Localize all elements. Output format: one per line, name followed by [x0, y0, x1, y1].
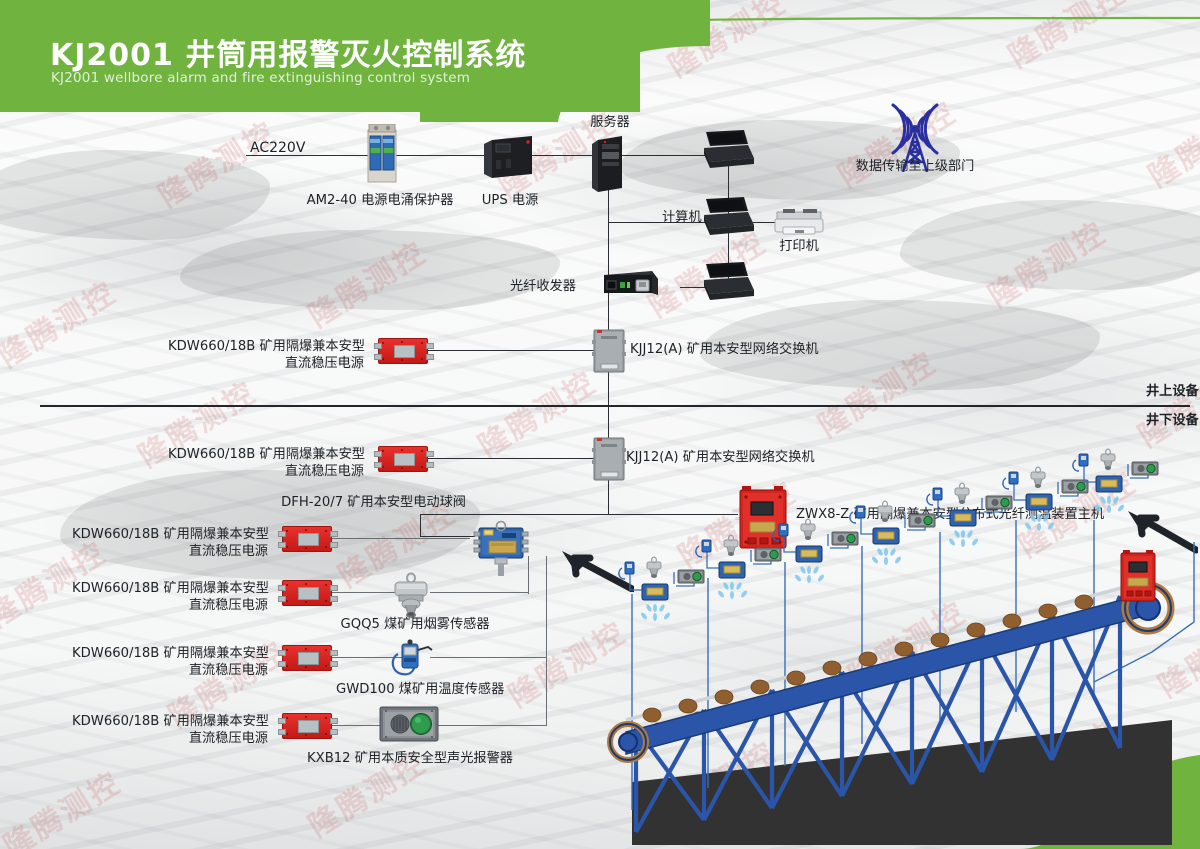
electric-ball-valve-icon: [470, 518, 532, 581]
temperature-sensor-label: GWD100 煤矿用温度传感器: [336, 681, 502, 698]
ps-line1: KDW660/18B 矿用隔爆兼本安型: [72, 714, 269, 729]
page-subtitle: KJ2001 wellbore alarm and fire extinguis…: [51, 70, 470, 86]
dc-power-supply-icon: [282, 526, 332, 552]
water-spray: [948, 530, 979, 547]
ps-line1: KDW660/18B 矿用隔爆兼本安型: [72, 581, 269, 596]
power-supply-label-4: KDW660/18B 矿用隔爆兼本安型 直流稳压电源: [72, 645, 268, 679]
water-spray: [871, 548, 902, 565]
computer-label: 计算机: [662, 209, 702, 226]
ps-line1: KDW660/18B 矿用隔爆兼本安型: [168, 339, 365, 354]
bg-terrain-5: [60, 470, 480, 580]
ps-line1: KDW660/18B 矿用隔爆兼本安型: [72, 527, 269, 542]
surge-protector-icon: [364, 124, 400, 193]
smoke-sensor-icon: [1031, 467, 1045, 488]
ground-level-divider: [40, 405, 1190, 407]
uplink-label: 数据传输至上级部门: [845, 158, 985, 175]
temperature-sensor-icon: [773, 524, 788, 541]
dc-power-supply-icon: [282, 645, 332, 671]
ps-line1: KDW660/18B 矿用隔爆兼本安型: [72, 646, 269, 661]
smoke-sensor-icon: [801, 519, 815, 540]
server-label: 服务器: [560, 114, 660, 131]
bg-terrain-2: [180, 230, 560, 310]
ps-line1: KDW660/18B 矿用隔爆兼本安型: [168, 447, 365, 462]
below-ground-label: 井下设备: [1146, 412, 1199, 429]
dc-power-supply-icon: [282, 580, 332, 606]
wire-power1-to-switch: [426, 350, 596, 351]
fiber-transceiver-icon: [600, 269, 658, 304]
server-icon: [592, 136, 628, 199]
temperature-sensor-icon: [1073, 454, 1088, 471]
smoke-sensor-label: GQQ5 煤矿用烟雾传感器: [340, 616, 490, 633]
sound-light-alarm-icon: [1132, 462, 1158, 475]
printer-label: 打印机: [758, 238, 840, 255]
water-spray: [1094, 496, 1125, 513]
ups-label: UPS 电源: [460, 192, 560, 209]
wire-temp-return: [430, 657, 546, 658]
header-accent-line: [420, 0, 1200, 60]
above-ground-label: 井上设备: [1146, 383, 1199, 400]
alarm-label: KXB12 矿用本质安全型声光报警器: [300, 750, 520, 767]
ps-line2: 直流稳压电源: [189, 544, 268, 559]
wire-alarm-return: [430, 725, 546, 726]
wire-power2-to-switch2: [426, 458, 596, 459]
power-supply-label-5: KDW660/18B 矿用隔爆兼本安型 直流稳压电源: [72, 713, 268, 747]
ps-line2: 直流稳压电源: [285, 464, 364, 479]
water-spray: [640, 604, 671, 621]
underground-switch-label: KJJ12(A) 矿用本安型网络交换机: [626, 449, 815, 466]
temperature-sensor-icon: [1003, 472, 1018, 489]
smoke-sensor-icon: [1101, 449, 1115, 470]
smoke-sensor-icon: [724, 535, 738, 556]
wire-valvecol-down: [420, 514, 421, 536]
temperature-sensor-icon: [388, 638, 434, 685]
computer-icon: [702, 197, 754, 244]
temperature-sensor-icon: [927, 488, 942, 505]
surge-protector-label: AM2-40 电源电涌保护器: [300, 192, 460, 209]
field-control-box-icon: [1118, 550, 1158, 611]
dc-power-supply-icon: [378, 338, 428, 364]
smoke-sensor-icon: [647, 557, 661, 578]
power-supply-label-2: KDW660/18B 矿用隔爆兼本安型 直流稳压电源: [72, 526, 268, 560]
wire-smoke-return: [430, 592, 528, 593]
temperature-sensor-icon: [696, 540, 711, 557]
fiber-transceiver-label: 光纤收发器: [510, 278, 576, 295]
dc-power-supply-icon: [282, 713, 332, 739]
network-switch-icon: [592, 328, 626, 379]
network-switch-icon: [592, 436, 626, 487]
computer-icon: [702, 130, 754, 177]
temperature-sensor-icon: [619, 562, 634, 579]
wire-ps-to-alarm: [330, 725, 380, 726]
diagram-canvas: 隆腾测控 隆腾测控 隆腾测控 隆腾测控 隆腾测控 隆腾测控 隆腾测控 隆腾测控 …: [0, 0, 1200, 849]
sound-light-alarm-icon: [378, 705, 440, 748]
ps-line2: 直流稳压电源: [189, 731, 268, 746]
spray-node: [1070, 448, 1180, 519]
ac-input-label: AC220V: [250, 140, 305, 157]
conveyor-ground-mass: [632, 720, 1172, 845]
wire-switch2-to-valvecol: [420, 514, 610, 515]
page-title: KJ2001 井筒用报警灭火控制系统: [50, 30, 526, 74]
smoke-sensor-icon: [878, 501, 892, 522]
ball-valve-label: DFH-20/7 矿用本安型电动球阀: [266, 494, 466, 511]
wire-to-ball-valve: [420, 536, 475, 537]
power-supply-label-3: KDW660/18B 矿用隔爆兼本安型 直流稳压电源: [72, 580, 268, 614]
wire-sensor-trunk: [546, 556, 547, 726]
ups-icon: [484, 134, 540, 185]
water-spray: [717, 582, 748, 599]
surface-switch-label: KJJ12(A) 矿用本安型网络交换机: [630, 341, 819, 358]
wire-ps-to-valve: [330, 538, 470, 539]
dc-power-supply-icon: [378, 446, 428, 472]
ps-line2: 直流稳压电源: [285, 356, 364, 371]
power-supply-label-1: KDW660/18B 矿用隔爆兼本安型 直流稳压电源: [168, 446, 364, 480]
wire-switch2-to-host: [608, 514, 738, 515]
temperature-sensor-icon: [850, 506, 865, 523]
water-spray: [1024, 514, 1055, 531]
computer-icon: [702, 262, 754, 309]
ps-line2: 直流稳压电源: [189, 598, 268, 613]
smoke-sensor-icon: [955, 483, 969, 504]
surface-power-supply-label: KDW660/18B 矿用隔爆兼本安型 直流稳压电源: [168, 338, 364, 372]
ps-line2: 直流稳压电源: [189, 663, 268, 678]
water-spray: [794, 566, 825, 583]
